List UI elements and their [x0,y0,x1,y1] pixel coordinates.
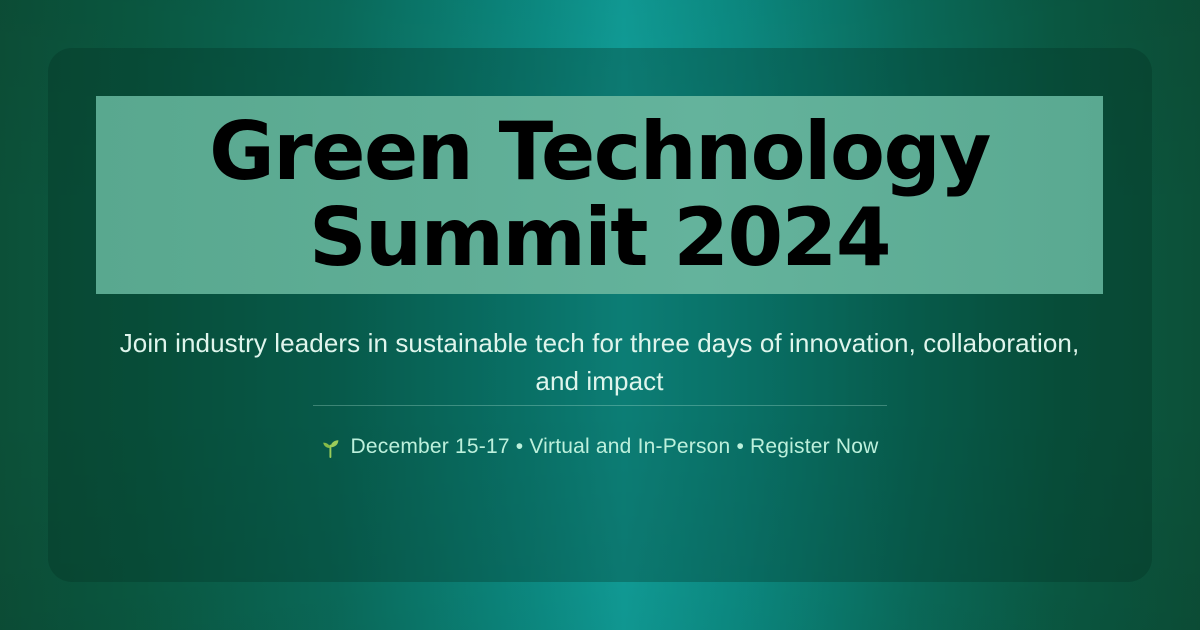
event-banner: Green Technology Summit 2024 Join indust… [0,0,1200,630]
banner-subtitle: Join industry leaders in sustainable tec… [96,324,1103,400]
sprout-icon [321,436,341,458]
banner-meta-text: December 15-17 • Virtual and In-Person •… [351,432,879,462]
page-title-line-2: Summit 2024 [309,195,890,281]
banner-meta: December 15-17 • Virtual and In-Person •… [96,432,1103,462]
meta-divider [313,405,887,406]
title-band: Green Technology Summit 2024 [96,96,1103,294]
banner-card: Green Technology Summit 2024 Join indust… [48,48,1152,582]
page-title-line-1: Green Technology [209,109,990,195]
